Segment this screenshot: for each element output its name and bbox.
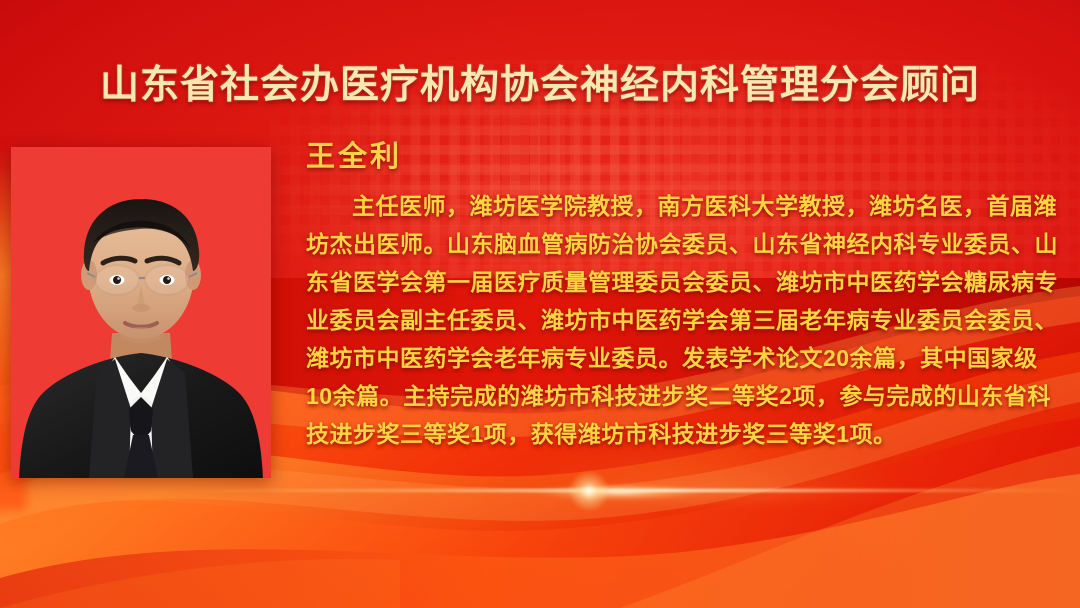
lens-flare-core bbox=[500, 462, 740, 522]
lens-flare-star bbox=[568, 470, 610, 512]
lens-flare-streak bbox=[180, 489, 1080, 492]
bio-paragraph: 主任医师，潍坊医学院教授，南方医科大学教授，潍坊名医，首届潍 坊杰出医师。山东脑… bbox=[306, 187, 1054, 453]
person-name: 王全利 bbox=[306, 133, 1054, 175]
bio-line: 技进步奖三等奖1项，获得潍坊市科技进步奖三等奖1项。 bbox=[306, 415, 1054, 453]
bio-line: 10余篇。主持完成的潍坊市科技进步奖二等奖2项，参与完成的山东省科 bbox=[306, 377, 1054, 415]
bio-line: 坊杰出医师。山东脑血管病防治协会委员、山东省神经内科专业委员、山 bbox=[306, 225, 1054, 263]
page-title: 山东省社会办医疗机构协会神经内科管理分会顾问 bbox=[0, 54, 1080, 110]
slide-root: 山东省社会办医疗机构协会神经内科管理分会顾问 bbox=[0, 0, 1080, 608]
bio-line: 潍坊市中医药学会老年病专业委员。发表学术论文20余篇，其中国家级 bbox=[306, 339, 1054, 377]
bio-line: 东省医学会第一届医疗质量管理委员会委员、潍坊市中医药学会糖尿病专 bbox=[306, 263, 1054, 301]
portrait-illustration bbox=[11, 147, 271, 478]
bio-line: 主任医师，潍坊医学院教授，南方医科大学教授，潍坊名医，首届潍 bbox=[306, 187, 1054, 225]
bio-block: 王全利 主任医师，潍坊医学院教授，南方医科大学教授，潍坊名医，首届潍 坊杰出医师… bbox=[306, 133, 1054, 453]
bio-line: 业委员会副主任委员、潍坊市中医药学会第三届老年病专业委员会委员、 bbox=[306, 301, 1054, 339]
portrait-photo bbox=[11, 147, 271, 478]
